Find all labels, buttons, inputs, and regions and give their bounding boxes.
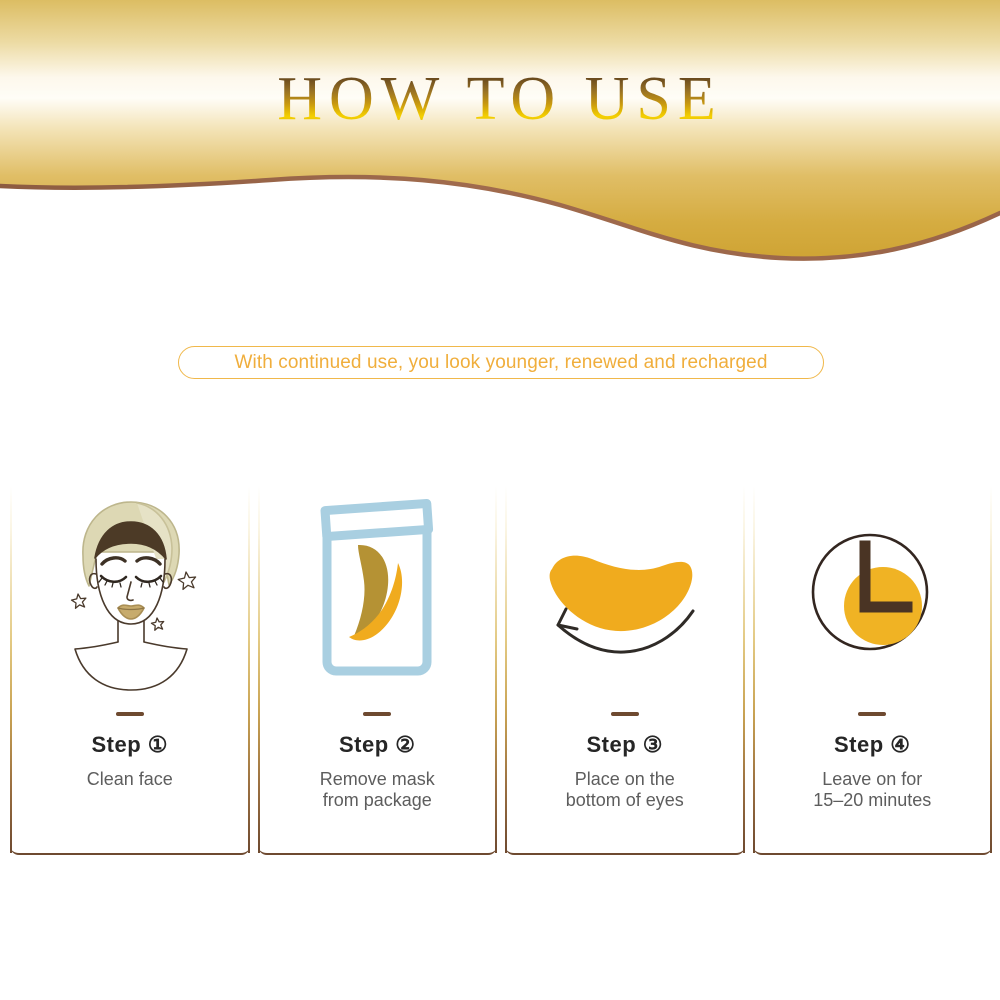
step-1-illustration bbox=[10, 480, 250, 710]
step-2-illustration bbox=[258, 480, 498, 710]
sparkle-star-icon bbox=[178, 572, 195, 589]
step-divider bbox=[116, 712, 144, 716]
tagline-text: With continued use, you look younger, re… bbox=[235, 353, 768, 372]
woman-face-icon bbox=[45, 490, 215, 705]
tagline-banner: With continued use, you look younger, re… bbox=[178, 346, 824, 379]
eye-patch-arrow-icon bbox=[530, 512, 720, 682]
step-card-1[interactable]: Step ① Clean face bbox=[10, 480, 250, 855]
step-4-description: Leave on for 15–20 minutes bbox=[813, 769, 931, 811]
step-4-illustration bbox=[753, 480, 993, 710]
page-title: HOW TO USE bbox=[0, 68, 1000, 130]
clock-icon bbox=[797, 522, 947, 672]
header-wave-graphic bbox=[0, 0, 1000, 270]
step-divider bbox=[858, 712, 886, 716]
mask-package-icon bbox=[302, 497, 452, 697]
sparkle-star-icon bbox=[71, 594, 85, 608]
steps-row: Step ① Clean face Step ② Remove mask fro… bbox=[10, 480, 992, 855]
sparkle-star-icon bbox=[151, 618, 163, 630]
step-4-label: Step ④ bbox=[834, 734, 911, 756]
step-3-description: Place on the bottom of eyes bbox=[566, 769, 684, 811]
step-2-label: Step ② bbox=[339, 734, 416, 756]
step-card-4[interactable]: Step ④ Leave on for 15–20 minutes bbox=[753, 480, 993, 855]
step-1-label: Step ① bbox=[91, 734, 168, 756]
step-divider bbox=[611, 712, 639, 716]
step-divider bbox=[363, 712, 391, 716]
header-banner: HOW TO USE bbox=[0, 0, 1000, 270]
step-1-description: Clean face bbox=[87, 769, 173, 790]
step-card-2[interactable]: Step ② Remove mask from package bbox=[258, 480, 498, 855]
step-3-label: Step ③ bbox=[586, 734, 663, 756]
step-card-3[interactable]: Step ③ Place on the bottom of eyes bbox=[505, 480, 745, 855]
step-2-description: Remove mask from package bbox=[320, 769, 435, 811]
eye-patch-shape bbox=[549, 556, 692, 631]
step-3-illustration bbox=[505, 480, 745, 710]
